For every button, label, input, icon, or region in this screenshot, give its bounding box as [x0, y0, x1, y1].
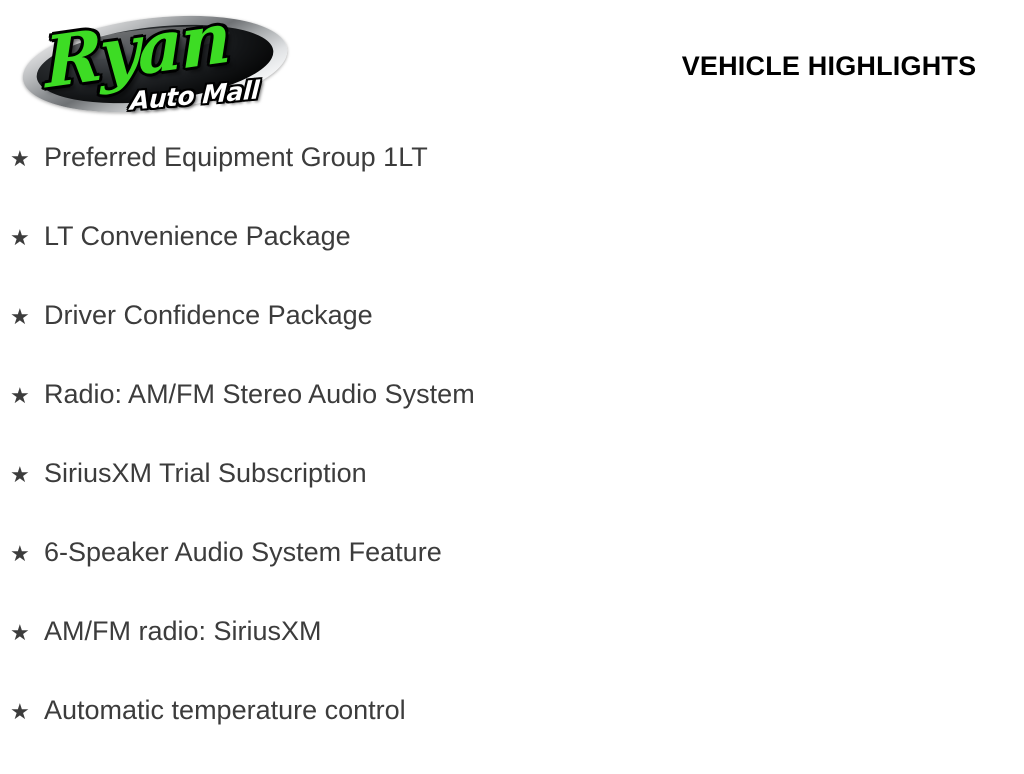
page-title: VEHICLE HIGHLIGHTS [664, 50, 994, 82]
list-item: ★ LT Convenience Package [0, 221, 1024, 300]
page-header: Ryan Auto Mall VEHICLE HIGHLIGHTS [0, 0, 1024, 125]
list-item: ★ Preferred Equipment Group 1LT [0, 142, 1024, 221]
star-icon: ★ [10, 698, 44, 728]
star-icon: ★ [10, 303, 44, 333]
star-icon: ★ [10, 540, 44, 570]
list-item: ★ Automatic temperature control [0, 695, 1024, 774]
list-item-label: LT Convenience Package [44, 221, 351, 251]
star-icon: ★ [10, 224, 44, 254]
star-icon: ★ [10, 382, 44, 412]
list-item: ★ SiriusXM Trial Subscription [0, 458, 1024, 537]
list-item-label: Preferred Equipment Group 1LT [44, 142, 428, 172]
list-item-label: Driver Confidence Package [44, 300, 373, 330]
list-item: ★ Driver Confidence Package [0, 300, 1024, 379]
vehicle-highlights-list: ★ Preferred Equipment Group 1LT ★ LT Con… [0, 142, 1024, 774]
star-icon: ★ [10, 619, 44, 649]
list-item-label: Radio: AM/FM Stereo Audio System [44, 379, 475, 409]
list-item-label: Automatic temperature control [44, 695, 406, 725]
star-icon: ★ [10, 461, 44, 491]
list-item-label: 6-Speaker Audio System Feature [44, 537, 442, 567]
list-item: ★ AM/FM radio: SiriusXM [0, 616, 1024, 695]
list-item-label: AM/FM radio: SiriusXM [44, 616, 322, 646]
dealer-logo: Ryan Auto Mall [20, 4, 290, 118]
list-item-label: SiriusXM Trial Subscription [44, 458, 367, 488]
list-item: ★ 6-Speaker Audio System Feature [0, 537, 1024, 616]
star-icon: ★ [10, 145, 44, 175]
list-item: ★ Radio: AM/FM Stereo Audio System [0, 379, 1024, 458]
